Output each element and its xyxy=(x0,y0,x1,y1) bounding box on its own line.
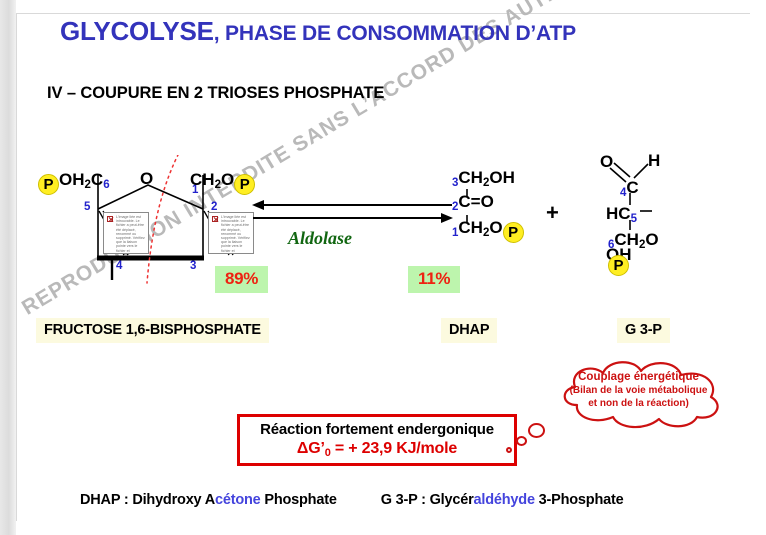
g3p-c6: 6CH2OP xyxy=(608,230,659,276)
label-g3p: G 3-P xyxy=(617,318,670,343)
legend-dhap-key: DHAP : xyxy=(80,492,128,508)
cloud-line-2: (Bilan de la voie métabolique xyxy=(551,384,726,397)
legend-dhap-part1: Dihydroxy A xyxy=(128,492,215,508)
locant-4: 4 xyxy=(116,260,122,272)
enzyme-label-aldolase: Aldolase xyxy=(288,228,352,249)
reaction-delta-g-value: ΔG’0 = + 23,9 KJ/mole xyxy=(240,440,514,459)
delta-g-number: = + 23,9 KJ/mole xyxy=(331,440,457,457)
page-title-main: GLYCOLYSE xyxy=(60,16,214,46)
broken-image-placeholder-left: L'image liée est introuvable. Le fichier… xyxy=(103,212,149,254)
g3p-c4-symbol: C xyxy=(626,178,638,197)
g3p-c6-tail: O xyxy=(645,230,658,249)
g3p-carbonyl-oxygen: O xyxy=(600,152,613,172)
page-title-rest: , PHASE DE CONSOMMATION D’ATP xyxy=(214,22,576,45)
slide-frame-top-rail xyxy=(16,0,766,13)
label-fructose-1-6-bisphosphate: FRUCTOSE 1,6-BISPHOSPHATE xyxy=(36,318,269,343)
cloud-line-1: Couplage énergétique xyxy=(551,371,726,384)
ring-oxygen-label: O xyxy=(140,169,153,189)
legend-g3p-key: G 3-P : xyxy=(381,492,426,508)
thought-bubble-small xyxy=(506,447,512,453)
legend-g3p-part1: Glycér xyxy=(426,492,474,508)
plus-sign: + xyxy=(546,200,559,226)
phosphate-circle-icon: P xyxy=(608,255,629,276)
broken-image-icon xyxy=(212,216,218,222)
c1-tail: O xyxy=(221,170,234,189)
legend-g3p-part2: 3-Phosphate xyxy=(535,492,624,508)
thought-bubble-medium xyxy=(516,436,527,446)
label-dhap: DHAP xyxy=(441,318,497,343)
g3p-aldehyde-hydrogen: H xyxy=(648,151,660,171)
g3p-c4: 4C xyxy=(620,178,639,199)
c6-locant: 6 xyxy=(103,179,109,191)
slide-frame-left-rail xyxy=(0,0,16,535)
abbreviation-legend: DHAP : Dihydroxy Acétone PhosphateG 3-P … xyxy=(80,492,623,508)
fructose-c1-phosphate-group: CH2OP xyxy=(190,170,255,195)
locant-2: 2 xyxy=(211,201,217,213)
reaction-endergonic-text: Réaction fortement endergonique xyxy=(240,421,514,438)
slide-frame-right-rail xyxy=(760,0,766,535)
legend-dhap-accent: cétone xyxy=(215,492,261,508)
reaction-energy-box: Réaction fortement endergonique ΔG’0 = +… xyxy=(237,414,517,466)
reversible-arrow-icon xyxy=(250,196,455,236)
locant-5: 5 xyxy=(84,201,90,213)
phosphate-circle-icon: P xyxy=(38,174,59,195)
dhap-structure: 3CH2OH 2C=O 1CH2OP xyxy=(452,168,524,242)
fructose-c6-phosphate-group: POH2C6 xyxy=(38,170,110,195)
broken-image-icon xyxy=(107,216,113,222)
broken-image-alt-text: L'image liée est introuvable. Le fichier… xyxy=(116,215,146,254)
cloud-text: Couplage énergétique (Bilan de la voie m… xyxy=(551,371,726,410)
cloud-line-3: et non de la réaction) xyxy=(551,397,726,410)
legend-g3p-accent: aldéhyde xyxy=(474,492,535,508)
phosphate-circle-icon: P xyxy=(234,174,255,195)
c6-formula: OH xyxy=(59,170,85,189)
section-heading: IV – COUPURE EN 2 TRIOSES PHOSPHATE xyxy=(47,84,384,103)
c1-formula: CH xyxy=(190,170,215,189)
broken-image-placeholder-right: L'image liée est introuvable. Le fichier… xyxy=(208,212,254,254)
g3p-c6-symbol: CH xyxy=(614,230,639,249)
legend-dhap-part2: Phosphate xyxy=(261,492,337,508)
g3p-locant-5: 5 xyxy=(631,213,637,225)
yield-percent-dhap: 89% xyxy=(215,266,268,293)
g3p-c5-symbol: HC xyxy=(606,204,631,223)
thought-cloud-callout: Couplage énergétique (Bilan de la voie m… xyxy=(535,357,740,432)
slide-canvas: REPRODUCTION INTERDITE SANS L’ACCORD DES… xyxy=(0,0,766,535)
delta-g-symbol: ΔG’ xyxy=(297,440,325,457)
reaction-arrows xyxy=(250,196,455,262)
dhap-bonds xyxy=(461,168,531,244)
c6-carbon: C xyxy=(91,170,103,189)
broken-image-alt-text: L'image liée est introuvable. Le fichier… xyxy=(221,215,251,254)
yield-percent-g3p: 11% xyxy=(408,266,460,293)
page-title: GLYCOLYSE, PHASE DE CONSOMMATION D’ATP xyxy=(60,16,720,47)
locant-3: 3 xyxy=(190,260,196,272)
